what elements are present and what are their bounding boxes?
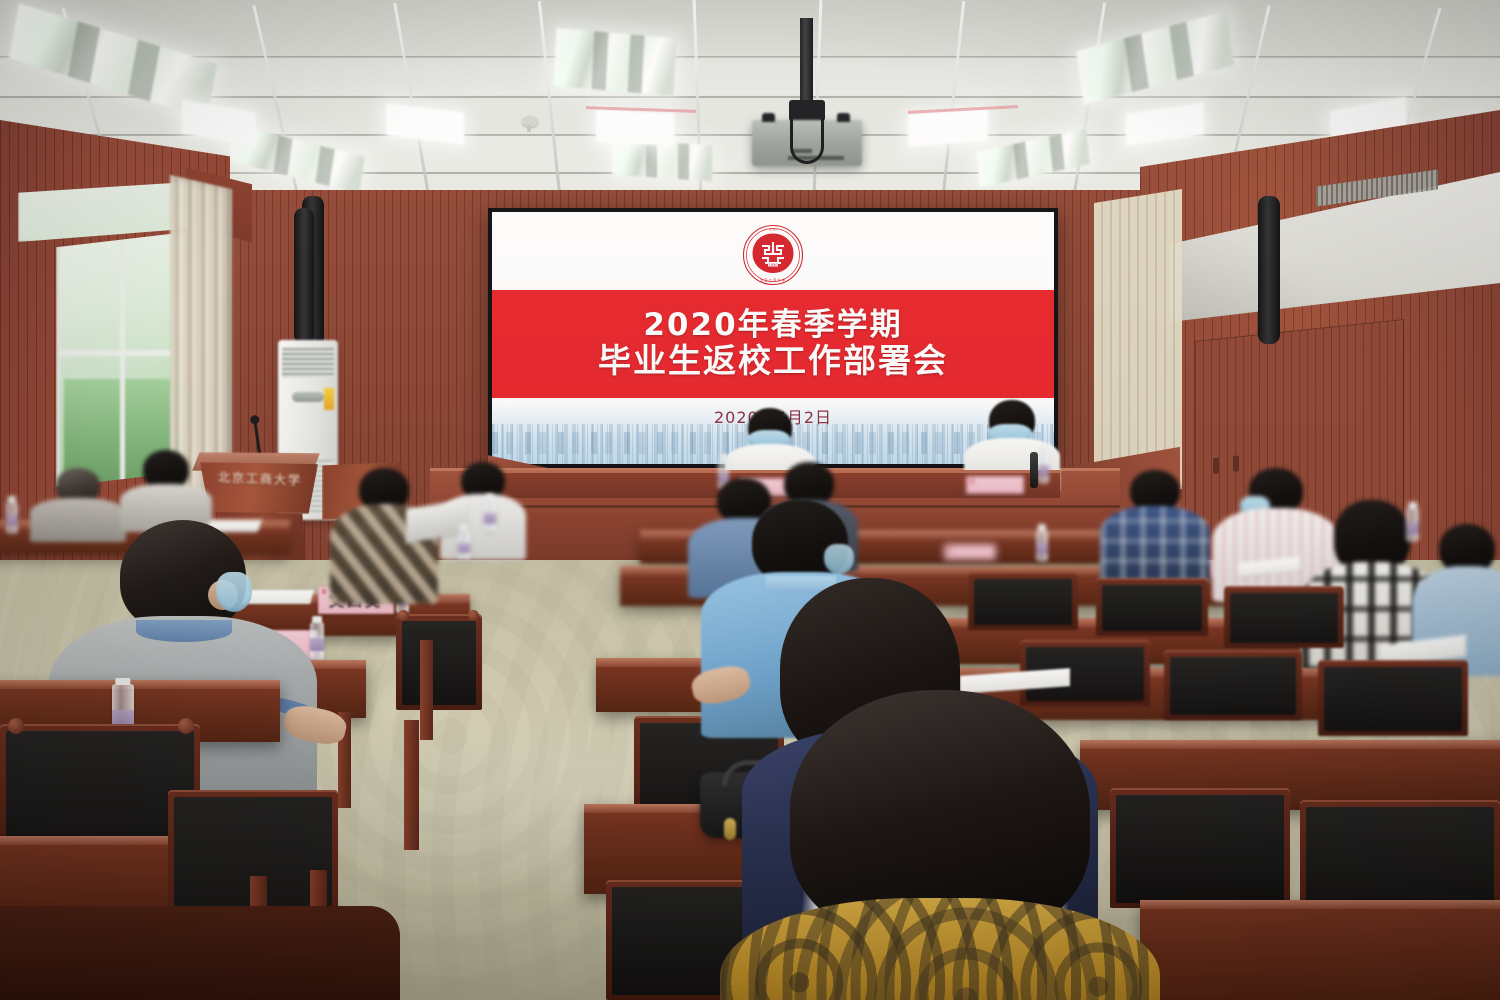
attendee-yellow-patterned-top (700, 690, 1180, 1000)
desk-row (1140, 900, 1500, 1000)
attendee-light-grey (120, 450, 212, 520)
water-bottle (484, 500, 496, 532)
attendee-plaid-shirt (1100, 470, 1210, 570)
face-mask (216, 572, 252, 612)
window (56, 232, 186, 487)
water-bottle (6, 502, 18, 534)
svg-text:1950: 1950 (768, 263, 778, 267)
water-bottle (1038, 452, 1049, 484)
ceiling-runner (1070, 2, 1106, 212)
chair-knob (8, 718, 24, 734)
foreground-chair-silhouette (0, 906, 400, 1000)
head-table-name-card (966, 476, 1024, 494)
svg-text:北京工商大学: 北京工商大学 (760, 278, 786, 283)
face-mask (824, 544, 854, 574)
chair-back (1224, 586, 1344, 648)
polo-collar (136, 620, 232, 642)
water-bottle (1036, 530, 1048, 562)
ceiling-runner (940, 1, 965, 212)
slide-title: 2020年春季学期 毕业生返校工作部署会 (492, 292, 1054, 396)
table-microphone (1030, 452, 1038, 488)
water-bottle (458, 530, 470, 560)
ac-duct-pipe (294, 208, 314, 344)
slide-title-line1: 2020年春季学期 (643, 309, 902, 342)
chair-knob (398, 610, 409, 621)
patterned-blouse (720, 898, 1160, 1000)
chair-knob (178, 718, 194, 734)
wall-speaker-right (1258, 196, 1280, 344)
water-bottle (1406, 508, 1419, 542)
desk-leg (404, 720, 419, 850)
name-card (944, 544, 996, 560)
chair-back (396, 614, 482, 710)
chair-knob (468, 610, 479, 621)
desk-leg (420, 640, 433, 740)
university-seal-logo: 1950 BTBU 北京工商大学 (742, 224, 804, 290)
conference-room-scene: 1950 BTBU 北京工商大学 2020年春季学期 毕业生返校工作部署会 20… (0, 0, 1500, 1000)
smoke-detector-icon (522, 116, 538, 127)
ceiling-runner (252, 5, 303, 212)
chair-back (1096, 578, 1208, 636)
chair-back (1164, 650, 1302, 720)
ceiling-troffer-light (553, 28, 676, 96)
ceiling-panel-light (596, 110, 674, 146)
svg-text:BTBU: BTBU (769, 228, 777, 232)
slide-title-line2: 毕业生返校工作部署会 (598, 344, 948, 379)
chair-back (1318, 660, 1468, 736)
ceiling-panel-light (908, 109, 988, 147)
